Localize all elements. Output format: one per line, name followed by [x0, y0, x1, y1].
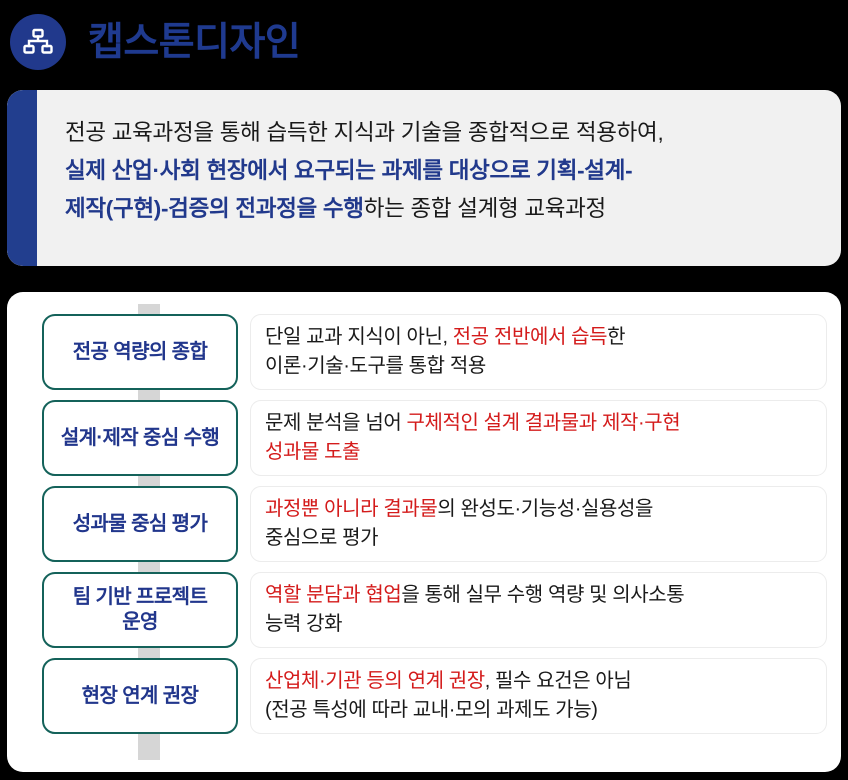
feature-text-segment: 과정뿐 아니라 결과물 — [265, 498, 437, 520]
feature-text-segment: 단일 교과 지식이 아닌, — [265, 326, 453, 348]
description-segment: 하는 종합 설계형 교육과정 — [364, 196, 606, 221]
sitemap-icon — [10, 14, 66, 70]
feature-label-chip[interactable]: 현장 연계 권장 — [42, 658, 238, 734]
feature-text-segment: 이론·기술·도구를 통합 적용 — [265, 355, 486, 377]
feature-description-text: 과정뿐 아니라 결과물의 완성도·기능성·실용성을중심으로 평가 — [265, 495, 653, 553]
feature-label-chip[interactable]: 설계·제작 중심 수행 — [42, 400, 238, 476]
feature-text-segment: 중심으로 평가 — [265, 527, 378, 549]
feature-text-segment: 한 — [607, 326, 625, 348]
feature-row: 전공 역량의 종합단일 교과 지식이 아닌, 전공 전반에서 습득한이론·기술·… — [42, 314, 827, 390]
feature-text-segment: 문제 분석을 넘어 — [265, 412, 406, 434]
feature-row: 팀 기반 프로젝트운영역할 분담과 협업을 통해 실무 수행 역량 및 의사소통… — [42, 572, 827, 648]
feature-label-chip[interactable]: 전공 역량의 종합 — [42, 314, 238, 390]
feature-text-segment: 산업체·기관 등의 연계 권장 — [265, 670, 485, 692]
description-text: 전공 교육과정을 통해 습득한 지식과 기술을 종합적으로 적용하여,실제 산업… — [65, 114, 823, 228]
feature-description-text: 산업체·기관 등의 연계 권장, 필수 요건은 아님(전공 특성에 따라 교내·… — [265, 667, 631, 725]
feature-text-segment: 을 통해 실무 수행 역량 및 의사소통 — [401, 584, 684, 606]
description-accent-bar — [7, 90, 37, 266]
feature-row: 현장 연계 권장산업체·기관 등의 연계 권장, 필수 요건은 아님(전공 특성… — [42, 658, 827, 734]
feature-description-text: 역할 분담과 협업을 통해 실무 수행 역량 및 의사소통능력 강화 — [265, 581, 684, 639]
feature-description-text: 단일 교과 지식이 아닌, 전공 전반에서 습득한이론·기술·도구를 통합 적용 — [265, 323, 625, 381]
description-segment: 전공 교육과정을 통해 습득한 지식과 기술을 종합적으로 적용하여, — [65, 120, 663, 145]
feature-row-list: 전공 역량의 종합단일 교과 지식이 아닌, 전공 전반에서 습득한이론·기술·… — [7, 292, 841, 772]
feature-description-box: 역할 분담과 협업을 통해 실무 수행 역량 및 의사소통능력 강화 — [250, 572, 827, 648]
description-segment: 실제 산업·사회 현장에서 요구되는 과제를 대상으로 기획-설계- — [65, 158, 632, 183]
feature-text-segment: 능력 강화 — [265, 613, 342, 635]
features-panel: 전공 역량의 종합단일 교과 지식이 아닌, 전공 전반에서 습득한이론·기술·… — [7, 292, 841, 772]
feature-text-segment: 전공 전반에서 습득 — [453, 326, 607, 348]
feature-description-text: 문제 분석을 넘어 구체적인 설계 결과물과 제작·구현성과물 도출 — [265, 409, 680, 467]
feature-row: 설계·제작 중심 수행문제 분석을 넘어 구체적인 설계 결과물과 제작·구현성… — [42, 400, 827, 476]
feature-text-segment: , 필수 요건은 아님 — [485, 670, 632, 692]
feature-text-segment: 의 완성도·기능성·실용성을 — [437, 498, 653, 520]
description-card: 전공 교육과정을 통해 습득한 지식과 기술을 종합적으로 적용하여,실제 산업… — [7, 90, 841, 266]
feature-text-segment: 역할 분담과 협업 — [265, 584, 401, 606]
description-segment: 제작(구현)-검증의 전과정을 수행 — [65, 196, 364, 221]
feature-label-chip[interactable]: 팀 기반 프로젝트운영 — [42, 572, 238, 648]
feature-text-segment: 성과물 도출 — [265, 441, 360, 463]
feature-description-box: 단일 교과 지식이 아닌, 전공 전반에서 습득한이론·기술·도구를 통합 적용 — [250, 314, 827, 390]
infographic-page: 캡스톤디자인 전공 교육과정을 통해 습득한 지식과 기술을 종합적으로 적용하… — [0, 0, 848, 780]
feature-label-chip[interactable]: 성과물 중심 평가 — [42, 486, 238, 562]
feature-row: 성과물 중심 평가과정뿐 아니라 결과물의 완성도·기능성·실용성을중심으로 평… — [42, 486, 827, 562]
page-title: 캡스톤디자인 — [88, 23, 300, 62]
feature-text-segment: (전공 특성에 따라 교내·모의 과제도 가능) — [265, 699, 598, 721]
feature-description-box: 과정뿐 아니라 결과물의 완성도·기능성·실용성을중심으로 평가 — [250, 486, 827, 562]
feature-text-segment: 구체적인 설계 결과물과 제작·구현 — [406, 412, 680, 434]
feature-description-box: 산업체·기관 등의 연계 권장, 필수 요건은 아님(전공 특성에 따라 교내·… — [250, 658, 827, 734]
page-header: 캡스톤디자인 — [0, 0, 848, 84]
feature-description-box: 문제 분석을 넘어 구체적인 설계 결과물과 제작·구현성과물 도출 — [250, 400, 827, 476]
